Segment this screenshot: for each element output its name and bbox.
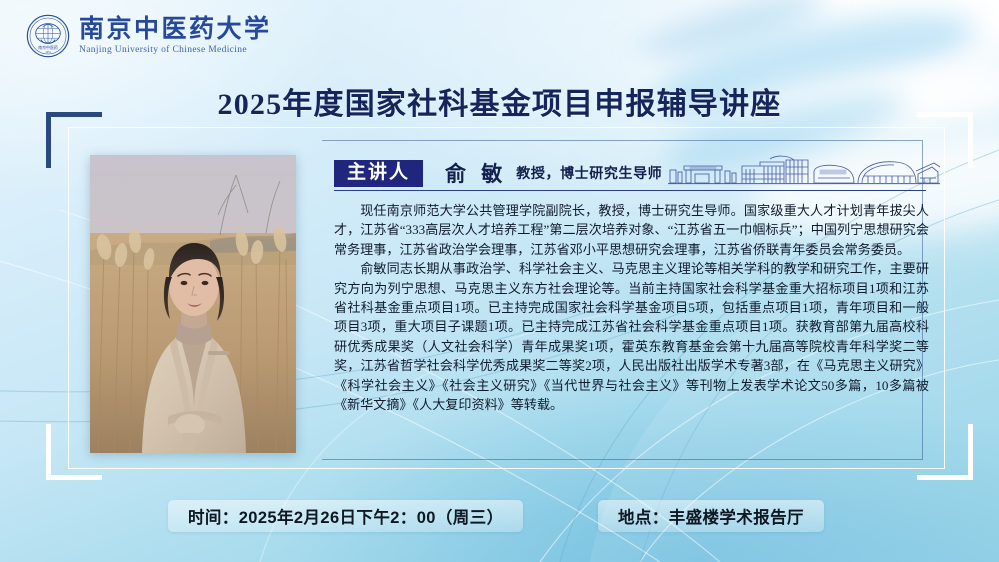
page-title: 2025年度国家社科基金项目申报辅导讲座: [0, 79, 999, 123]
event-time: 时间：2025年2月26日下午2：00（周三）: [168, 500, 523, 532]
campus-buildings-illustration: [668, 152, 940, 186]
event-location: 地点：丰盛楼学术报告厅: [598, 500, 824, 532]
bio-paragraph: 现任南京师范大学公共管理学院副院长，教授，博士研究生导师。国家级重大人才计划青年…: [334, 201, 929, 259]
speaker-name: 俞 敏: [445, 158, 507, 188]
svg-text:1954: 1954: [45, 51, 51, 54]
speaker-badge: 主讲人: [334, 160, 423, 187]
poster-header: 南京中医药 1954 南京中医药大学 Nanjing University of…: [0, 0, 999, 72]
university-seal-icon: 南京中医药 1954: [26, 14, 70, 58]
university-name-cn: 南京中医药大学: [79, 17, 272, 42]
university-logo: 南京中医药 1954 南京中医药大学 Nanjing University of…: [26, 14, 272, 58]
university-name-en: Nanjing University of Chinese Medicine: [79, 46, 272, 56]
svg-text:南京中医药: 南京中医药: [38, 45, 58, 50]
speaker-portrait-photo: [90, 155, 296, 453]
poster-canvas: 南京中医药 1954 南京中医药大学 Nanjing University of…: [0, 0, 999, 562]
corner-bracket-bottom-right: [917, 424, 973, 480]
speaker-credentials: 教授，博士研究生导师: [516, 163, 662, 183]
bio-paragraph: 俞敏同志长期从事政治学、科学社会主义、马克思主义理论等相关学科的教学和研究工作，…: [334, 259, 929, 414]
speaker-bio: 现任南京师范大学公共管理学院副院长，教授，博士研究生导师。国家级重大人才计划青年…: [334, 201, 929, 414]
header-divider: [334, 190, 926, 191]
